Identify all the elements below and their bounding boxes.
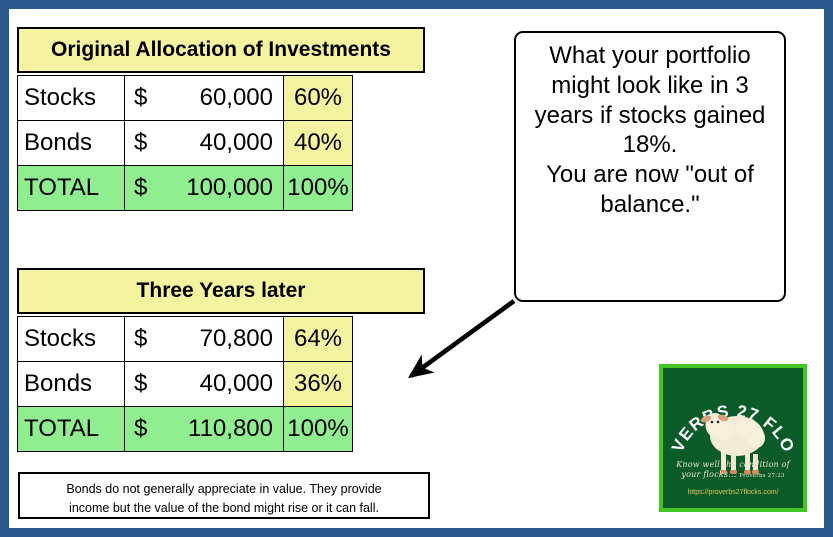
row-amount: $ 110,800 [125, 407, 284, 452]
logo-url: https://proverbs27flocks.com/ [663, 489, 803, 496]
logo-tagline: Know well the condition of your flocks..… [663, 460, 803, 480]
footnote-box: Bonds do not generally appreciate in val… [18, 472, 430, 519]
allocation-table-three-years-later: Stocks $ 70,800 64% Bonds $ 40,000 [17, 316, 353, 452]
currency-symbol: $ [134, 129, 147, 157]
brand-logo: PROVERBS 27 FLOCKS [659, 364, 807, 512]
table-row: Bonds $ 40,000 40% [18, 121, 353, 166]
logo-arc-text: PROVERBS 27 FLOCKS [663, 368, 803, 508]
row-amount: $ 60,000 [125, 76, 284, 121]
table-row: Stocks $ 70,800 64% [18, 317, 353, 362]
allocation-table-original: Stocks $ 60,000 60% Bonds $ 40,000 [17, 75, 353, 211]
currency-symbol: $ [134, 415, 147, 443]
table-title-original: Original Allocation of Investments [17, 27, 425, 73]
logo-scripture-reference: Proverbs 27:23 [739, 473, 784, 479]
pointer-arrow [390, 288, 530, 393]
row-label: Bonds [18, 362, 125, 407]
table-row-total: TOTAL $ 110,800 100% [18, 407, 353, 452]
row-amount: $ 40,000 [125, 121, 284, 166]
logo-tagline-line-2: your flocks... [681, 470, 736, 479]
amount-value: 40,000 [200, 370, 273, 398]
row-percent: 40% [284, 121, 353, 166]
row-label: Bonds [18, 121, 125, 166]
row-amount: $ 100,000 [125, 166, 284, 211]
row-percent: 100% [284, 407, 353, 452]
amount-value: 110,800 [188, 415, 273, 443]
allocation-block-original: Original Allocation of Investments Stock… [17, 27, 425, 211]
row-percent: 60% [284, 76, 353, 121]
logo-tagline-line-2-wrap: your flocks... Proverbs 27:23 [663, 470, 803, 480]
row-label: TOTAL [18, 407, 125, 452]
currency-symbol: $ [134, 325, 147, 353]
table-row-total: TOTAL $ 100,000 100% [18, 166, 353, 211]
table-title-three-years-later: Three Years later [17, 268, 425, 314]
currency-symbol: $ [134, 84, 147, 112]
amount-value: 100,000 [186, 174, 273, 202]
row-label: Stocks [18, 317, 125, 362]
amount-value: 60,000 [200, 84, 273, 112]
row-label: Stocks [18, 76, 125, 121]
allocation-block-three-years-later: Three Years later Stocks $ 70,800 64% Bo… [17, 268, 425, 452]
row-percent: 64% [284, 317, 353, 362]
table-row: Bonds $ 40,000 36% [18, 362, 353, 407]
amount-value: 40,000 [200, 129, 273, 157]
row-percent: 100% [284, 166, 353, 211]
footnote-line-1: Bonds do not generally appreciate in val… [20, 480, 428, 499]
logo-tagline-line-1: Know well the condition of [663, 460, 803, 470]
footnote-line-2: income but the value of the bond might r… [20, 499, 428, 518]
slide-canvas: Original Allocation of Investments Stock… [0, 0, 833, 537]
currency-symbol: $ [134, 370, 147, 398]
amount-value: 70,800 [200, 325, 273, 353]
logo-inner-panel: PROVERBS 27 FLOCKS [663, 368, 803, 508]
table-row: Stocks $ 60,000 60% [18, 76, 353, 121]
callout-textbox: What your portfolio might look like in 3… [514, 31, 786, 302]
row-amount: $ 70,800 [125, 317, 284, 362]
row-label: TOTAL [18, 166, 125, 211]
row-amount: $ 40,000 [125, 362, 284, 407]
row-percent: 36% [284, 362, 353, 407]
callout-text: What your portfolio might look like in 3… [535, 42, 766, 218]
currency-symbol: $ [134, 174, 147, 202]
